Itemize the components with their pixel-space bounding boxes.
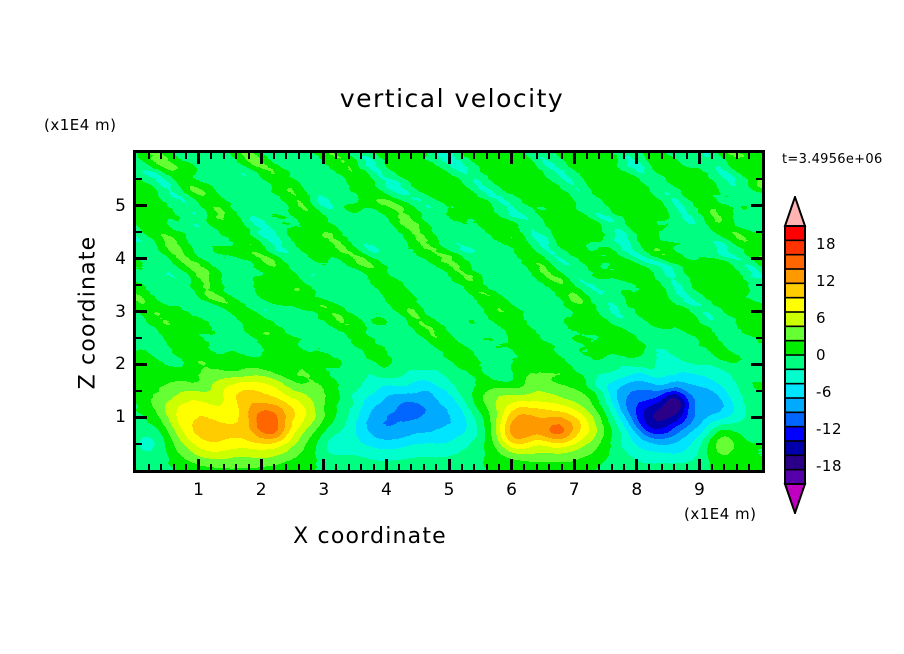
x-minor-tick: [548, 464, 550, 470]
y-major-tick: [136, 204, 147, 207]
x-minor-tick: [461, 153, 463, 159]
y-major-tick: [751, 204, 762, 207]
y-tick-label: 1: [102, 407, 126, 427]
x-axis-title: X coordinate: [0, 524, 740, 549]
y-minor-tick: [136, 178, 142, 180]
x-minor-tick: [273, 464, 275, 470]
y-minor-tick: [136, 443, 142, 445]
x-minor-tick: [736, 153, 738, 159]
x-tick-label: 7: [569, 480, 580, 500]
y-major-tick: [136, 416, 147, 419]
x-major-tick: [197, 459, 200, 470]
x-minor-tick: [473, 464, 475, 470]
x-minor-tick: [723, 153, 725, 159]
x-minor-tick: [536, 464, 538, 470]
y-axis-unit-label: (x1E4 m): [44, 116, 117, 134]
x-minor-tick: [210, 153, 212, 159]
x-minor-tick: [398, 153, 400, 159]
colorbar-tick-label: -18: [816, 457, 842, 475]
x-minor-tick: [523, 153, 525, 159]
x-minor-tick: [748, 464, 750, 470]
x-minor-tick: [310, 464, 312, 470]
x-minor-tick: [648, 464, 650, 470]
x-minor-tick: [360, 464, 362, 470]
x-minor-tick: [360, 153, 362, 159]
x-minor-tick: [423, 464, 425, 470]
x-minor-tick: [398, 464, 400, 470]
x-major-tick: [698, 153, 701, 164]
x-minor-tick: [235, 464, 237, 470]
y-major-tick: [751, 257, 762, 260]
x-tick-label: 9: [694, 480, 705, 500]
x-minor-tick: [235, 153, 237, 159]
x-minor-tick: [373, 153, 375, 159]
x-minor-tick: [498, 153, 500, 159]
x-minor-tick: [523, 464, 525, 470]
x-minor-tick: [223, 464, 225, 470]
x-minor-tick: [173, 153, 175, 159]
y-minor-tick: [136, 390, 142, 392]
x-minor-tick: [611, 464, 613, 470]
x-minor-tick: [648, 153, 650, 159]
x-major-tick: [197, 153, 200, 164]
x-minor-tick: [285, 464, 287, 470]
x-minor-tick: [611, 153, 613, 159]
x-minor-tick: [623, 153, 625, 159]
x-minor-tick: [348, 464, 350, 470]
x-minor-tick: [661, 464, 663, 470]
x-minor-tick: [711, 464, 713, 470]
x-major-tick: [448, 459, 451, 470]
y-minor-tick: [136, 231, 142, 233]
x-minor-tick: [423, 153, 425, 159]
x-tick-label: 3: [318, 480, 329, 500]
y-major-tick: [751, 416, 762, 419]
x-minor-tick: [561, 464, 563, 470]
x-minor-tick: [435, 464, 437, 470]
x-minor-tick: [148, 153, 150, 159]
x-minor-tick: [536, 153, 538, 159]
x-minor-tick: [160, 464, 162, 470]
x-minor-tick: [686, 153, 688, 159]
x-minor-tick: [335, 153, 337, 159]
x-minor-tick: [598, 464, 600, 470]
x-minor-tick: [486, 153, 488, 159]
y-major-tick: [751, 310, 762, 313]
x-major-tick: [385, 459, 388, 470]
y-major-tick: [136, 257, 147, 260]
x-minor-tick: [273, 153, 275, 159]
y-major-tick: [136, 363, 147, 366]
colorbar-tick-label: 12: [816, 272, 836, 290]
x-minor-tick: [348, 153, 350, 159]
y-tick-label: 4: [102, 249, 126, 269]
x-major-tick: [573, 459, 576, 470]
x-minor-tick: [623, 464, 625, 470]
x-minor-tick: [185, 464, 187, 470]
x-minor-tick: [548, 153, 550, 159]
x-major-tick: [385, 153, 388, 164]
y-minor-tick: [136, 337, 142, 339]
colorbar-tick-label: -12: [816, 420, 842, 438]
y-minor-tick: [756, 178, 762, 180]
x-minor-tick: [185, 153, 187, 159]
x-major-tick: [448, 153, 451, 164]
y-minor-tick: [756, 390, 762, 392]
x-minor-tick: [561, 153, 563, 159]
x-minor-tick: [598, 153, 600, 159]
x-major-tick: [260, 459, 263, 470]
colorbar-tick-label: -6: [816, 383, 832, 401]
x-major-tick: [260, 153, 263, 164]
x-tick-label: 6: [506, 480, 517, 500]
x-major-tick: [635, 153, 638, 164]
x-major-tick: [322, 153, 325, 164]
x-minor-tick: [373, 464, 375, 470]
x-minor-tick: [461, 464, 463, 470]
page-title: vertical velocity: [0, 84, 904, 113]
x-minor-tick: [673, 464, 675, 470]
x-minor-tick: [586, 153, 588, 159]
x-major-tick: [322, 459, 325, 470]
x-minor-tick: [223, 153, 225, 159]
x-minor-tick: [298, 153, 300, 159]
y-tick-label: 5: [102, 196, 126, 216]
x-minor-tick: [486, 464, 488, 470]
x-minor-tick: [160, 153, 162, 159]
x-major-tick: [573, 153, 576, 164]
x-major-tick: [510, 459, 513, 470]
colorbar: [782, 196, 808, 514]
x-minor-tick: [435, 153, 437, 159]
x-tick-label: 5: [444, 480, 455, 500]
x-minor-tick: [335, 464, 337, 470]
y-major-tick: [136, 310, 147, 313]
x-tick-label: 2: [256, 480, 267, 500]
x-minor-tick: [410, 464, 412, 470]
x-minor-tick: [673, 153, 675, 159]
x-minor-tick: [473, 153, 475, 159]
x-major-tick: [510, 153, 513, 164]
y-minor-tick: [756, 443, 762, 445]
x-axis-unit-label: (x1E4 m): [684, 505, 757, 523]
x-minor-tick: [248, 153, 250, 159]
x-minor-tick: [711, 153, 713, 159]
x-minor-tick: [736, 464, 738, 470]
x-tick-label: 4: [381, 480, 392, 500]
x-tick-label: 8: [631, 480, 642, 500]
y-axis-title: Z coordinate: [76, 213, 101, 413]
figure-canvas: vertical velocity (x1E4 m) t=3.4956e+06 …: [0, 0, 904, 654]
x-minor-tick: [298, 464, 300, 470]
y-tick-label: 3: [102, 302, 126, 322]
y-minor-tick: [756, 284, 762, 286]
x-major-tick: [635, 459, 638, 470]
contour-plot-area: [136, 153, 762, 470]
x-minor-tick: [285, 153, 287, 159]
y-major-tick: [751, 363, 762, 366]
x-minor-tick: [310, 153, 312, 159]
x-tick-label: 1: [193, 480, 204, 500]
x-minor-tick: [173, 464, 175, 470]
timestamp-annotation: t=3.4956e+06: [782, 152, 883, 167]
x-minor-tick: [723, 464, 725, 470]
x-minor-tick: [148, 464, 150, 470]
x-minor-tick: [248, 464, 250, 470]
x-minor-tick: [210, 464, 212, 470]
x-minor-tick: [586, 464, 588, 470]
colorbar-tick-label: 18: [816, 235, 836, 253]
x-minor-tick: [498, 464, 500, 470]
x-major-tick: [698, 459, 701, 470]
x-minor-tick: [661, 153, 663, 159]
y-minor-tick: [136, 284, 142, 286]
colorbar-tick-label: 0: [816, 346, 826, 364]
x-minor-tick: [686, 464, 688, 470]
y-minor-tick: [756, 231, 762, 233]
y-minor-tick: [756, 337, 762, 339]
colorbar-tick-label: 6: [816, 309, 826, 327]
x-minor-tick: [748, 153, 750, 159]
x-minor-tick: [410, 153, 412, 159]
y-tick-label: 2: [102, 354, 126, 374]
